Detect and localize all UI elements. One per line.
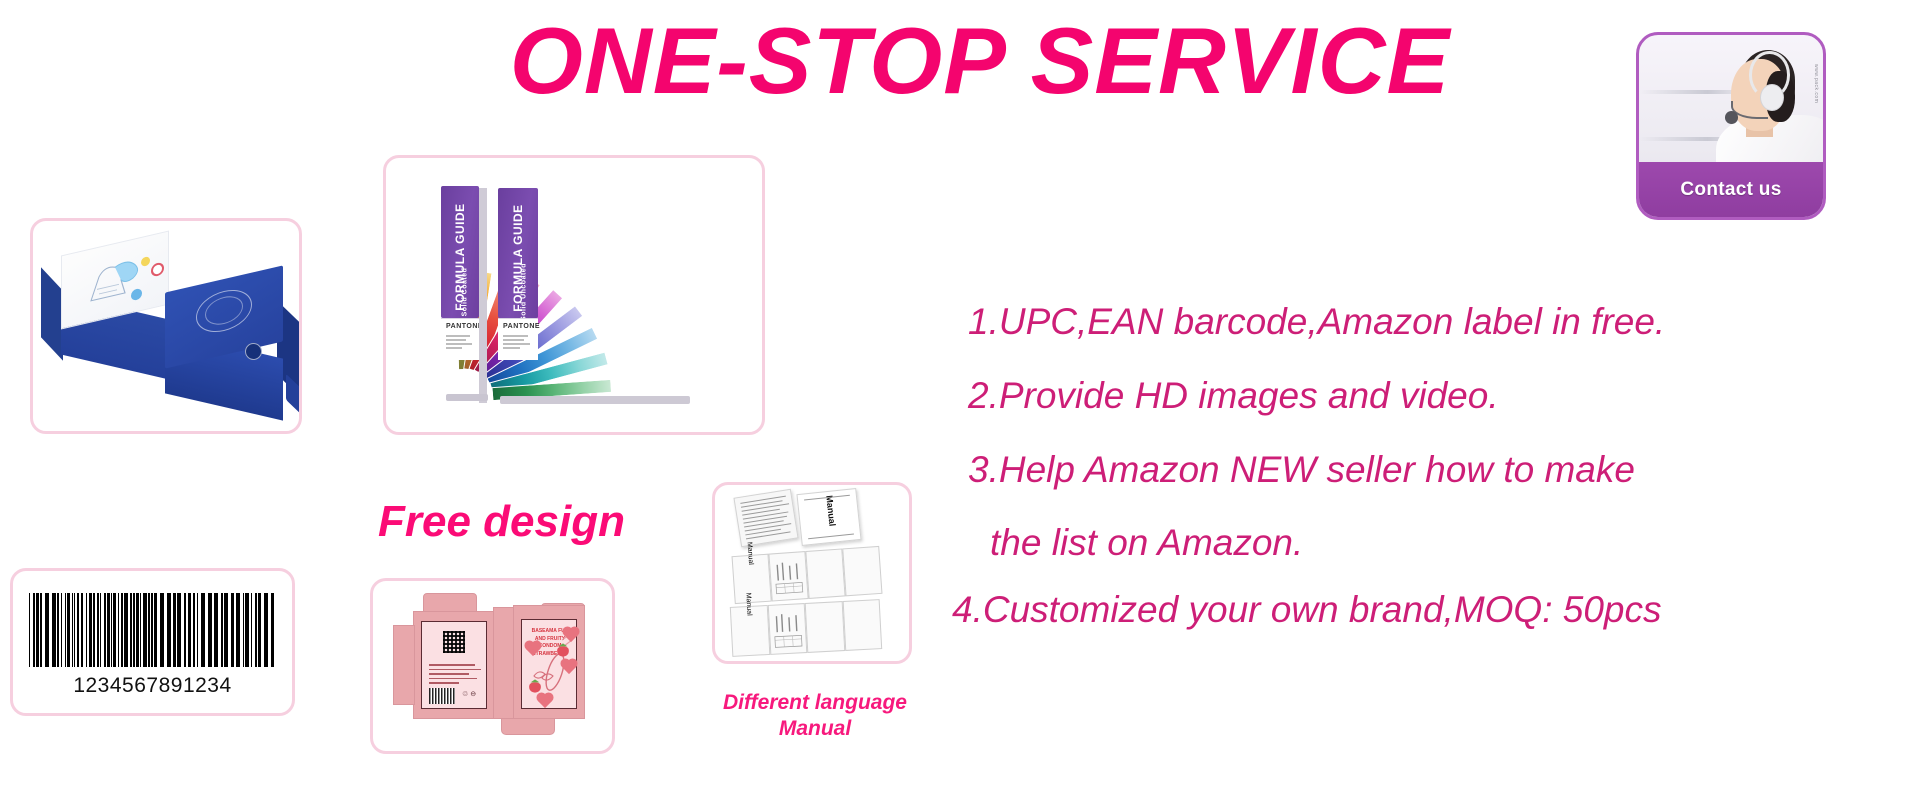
box-side	[41, 267, 63, 361]
dieline-illustration: ♲ ⊖ BASEAMA FUN AND FRUITY CONDOM STRAWB…	[373, 581, 612, 751]
dieline-barcode-icon	[429, 688, 455, 704]
book-subtitle-uncoated: Solid Uncoated	[520, 263, 527, 321]
pantone-brand-label: PANTONE	[503, 323, 540, 330]
barcode-frame: 1234567891234	[10, 568, 295, 716]
list-item: 3.Help Amazon NEW seller how to make	[968, 451, 1635, 488]
manual-caption: Different language Manual	[700, 690, 930, 743]
barcode-number: 1234567891234	[73, 674, 231, 698]
manual-booklet	[733, 489, 798, 547]
gift-box-photo-frame	[30, 218, 302, 434]
manual-caption-line2: Manual	[700, 716, 930, 742]
qr-code-icon	[443, 631, 465, 653]
free-design-label: Free design	[378, 497, 625, 547]
dieline-frame: ♲ ⊖ BASEAMA FUN AND FRUITY CONDOM STRAWB…	[370, 578, 615, 754]
page-title: ONE-STOP SERVICE	[500, 10, 1460, 112]
book-footer-lines	[503, 335, 530, 351]
pantone-photo-frame: FORMULA GUIDE Solid Coated PANTONE FORMU…	[383, 155, 765, 435]
watermark-text: www.pack.com	[1813, 64, 1819, 103]
contact-us-badge[interactable]: www.pack.com Contact us	[1636, 32, 1826, 220]
manual-illustration: Manual Manual	[715, 485, 909, 661]
gift-box-illustration	[33, 221, 299, 431]
list-item: 4.Customized your own brand,MOQ: 50pcs	[952, 591, 1662, 628]
pantone-book-coated-foot: PANTONE	[441, 318, 479, 360]
barcode-label: 1234567891234	[13, 593, 292, 698]
strawberry-icon	[552, 642, 574, 658]
manual-photo-frame: Manual Manual	[712, 482, 912, 664]
list-item: 1.UPC,EAN barcode,Amazon label in free.	[968, 303, 1665, 340]
dieline-artwork-front: BASEAMA FUN AND FRUITY CONDOM STRAWBERRY	[521, 619, 577, 709]
book-subtitle-coated: Solid Coated	[462, 267, 469, 316]
manual-caption-line1: Different language	[700, 690, 930, 716]
book-spine-shadow	[479, 188, 487, 403]
dieline-glue-tab	[493, 607, 515, 719]
leaflet-diagram-icon	[768, 604, 806, 654]
pantone-book-uncoated-foot: PANTONE	[498, 318, 538, 360]
pantone-brand-label: PANTONE	[446, 323, 483, 330]
manual-cover: Manual	[796, 488, 861, 546]
pantone-book-coated: FORMULA GUIDE Solid Coated	[441, 186, 479, 318]
list-item: the list on Amazon.	[990, 524, 1303, 561]
contact-us-label: Contact us	[1680, 179, 1781, 201]
fan-base	[500, 396, 690, 404]
barcode-bars	[29, 593, 276, 667]
badge-icon	[245, 343, 262, 360]
manual-cover-title: Manual	[824, 495, 837, 527]
manual-leaflet: Manual	[730, 599, 882, 657]
book-base	[446, 394, 488, 401]
list-item: 2.Provide HD images and video.	[968, 377, 1499, 414]
dieline-artwork-back: ♲ ⊖	[421, 621, 487, 709]
dieline-flap-top-left	[423, 593, 477, 613]
pantone-illustration: FORMULA GUIDE Solid Coated PANTONE FORMU…	[386, 158, 762, 432]
manual-leaflet: Manual	[732, 546, 883, 604]
one-stop-service-banner: ONE-STOP SERVICE www.pack.com Contact us	[0, 0, 1920, 800]
strawberry-icon	[524, 678, 546, 694]
leaflet-diagram-icon	[769, 552, 807, 600]
pantone-book-uncoated: FORMULA GUIDE Solid Uncoated	[498, 188, 538, 318]
contact-us-bar[interactable]: Contact us	[1639, 162, 1823, 217]
barcode-gap	[274, 593, 276, 667]
cover-rule	[808, 533, 854, 539]
leaflet-title: Manual	[746, 542, 755, 577]
dieline-side-tab-left	[393, 625, 415, 705]
book-footer-lines	[446, 335, 472, 351]
dieline-body-text	[429, 664, 481, 687]
manual-text-lines	[740, 495, 794, 542]
recycle-icon: ♲ ⊖	[462, 690, 476, 698]
